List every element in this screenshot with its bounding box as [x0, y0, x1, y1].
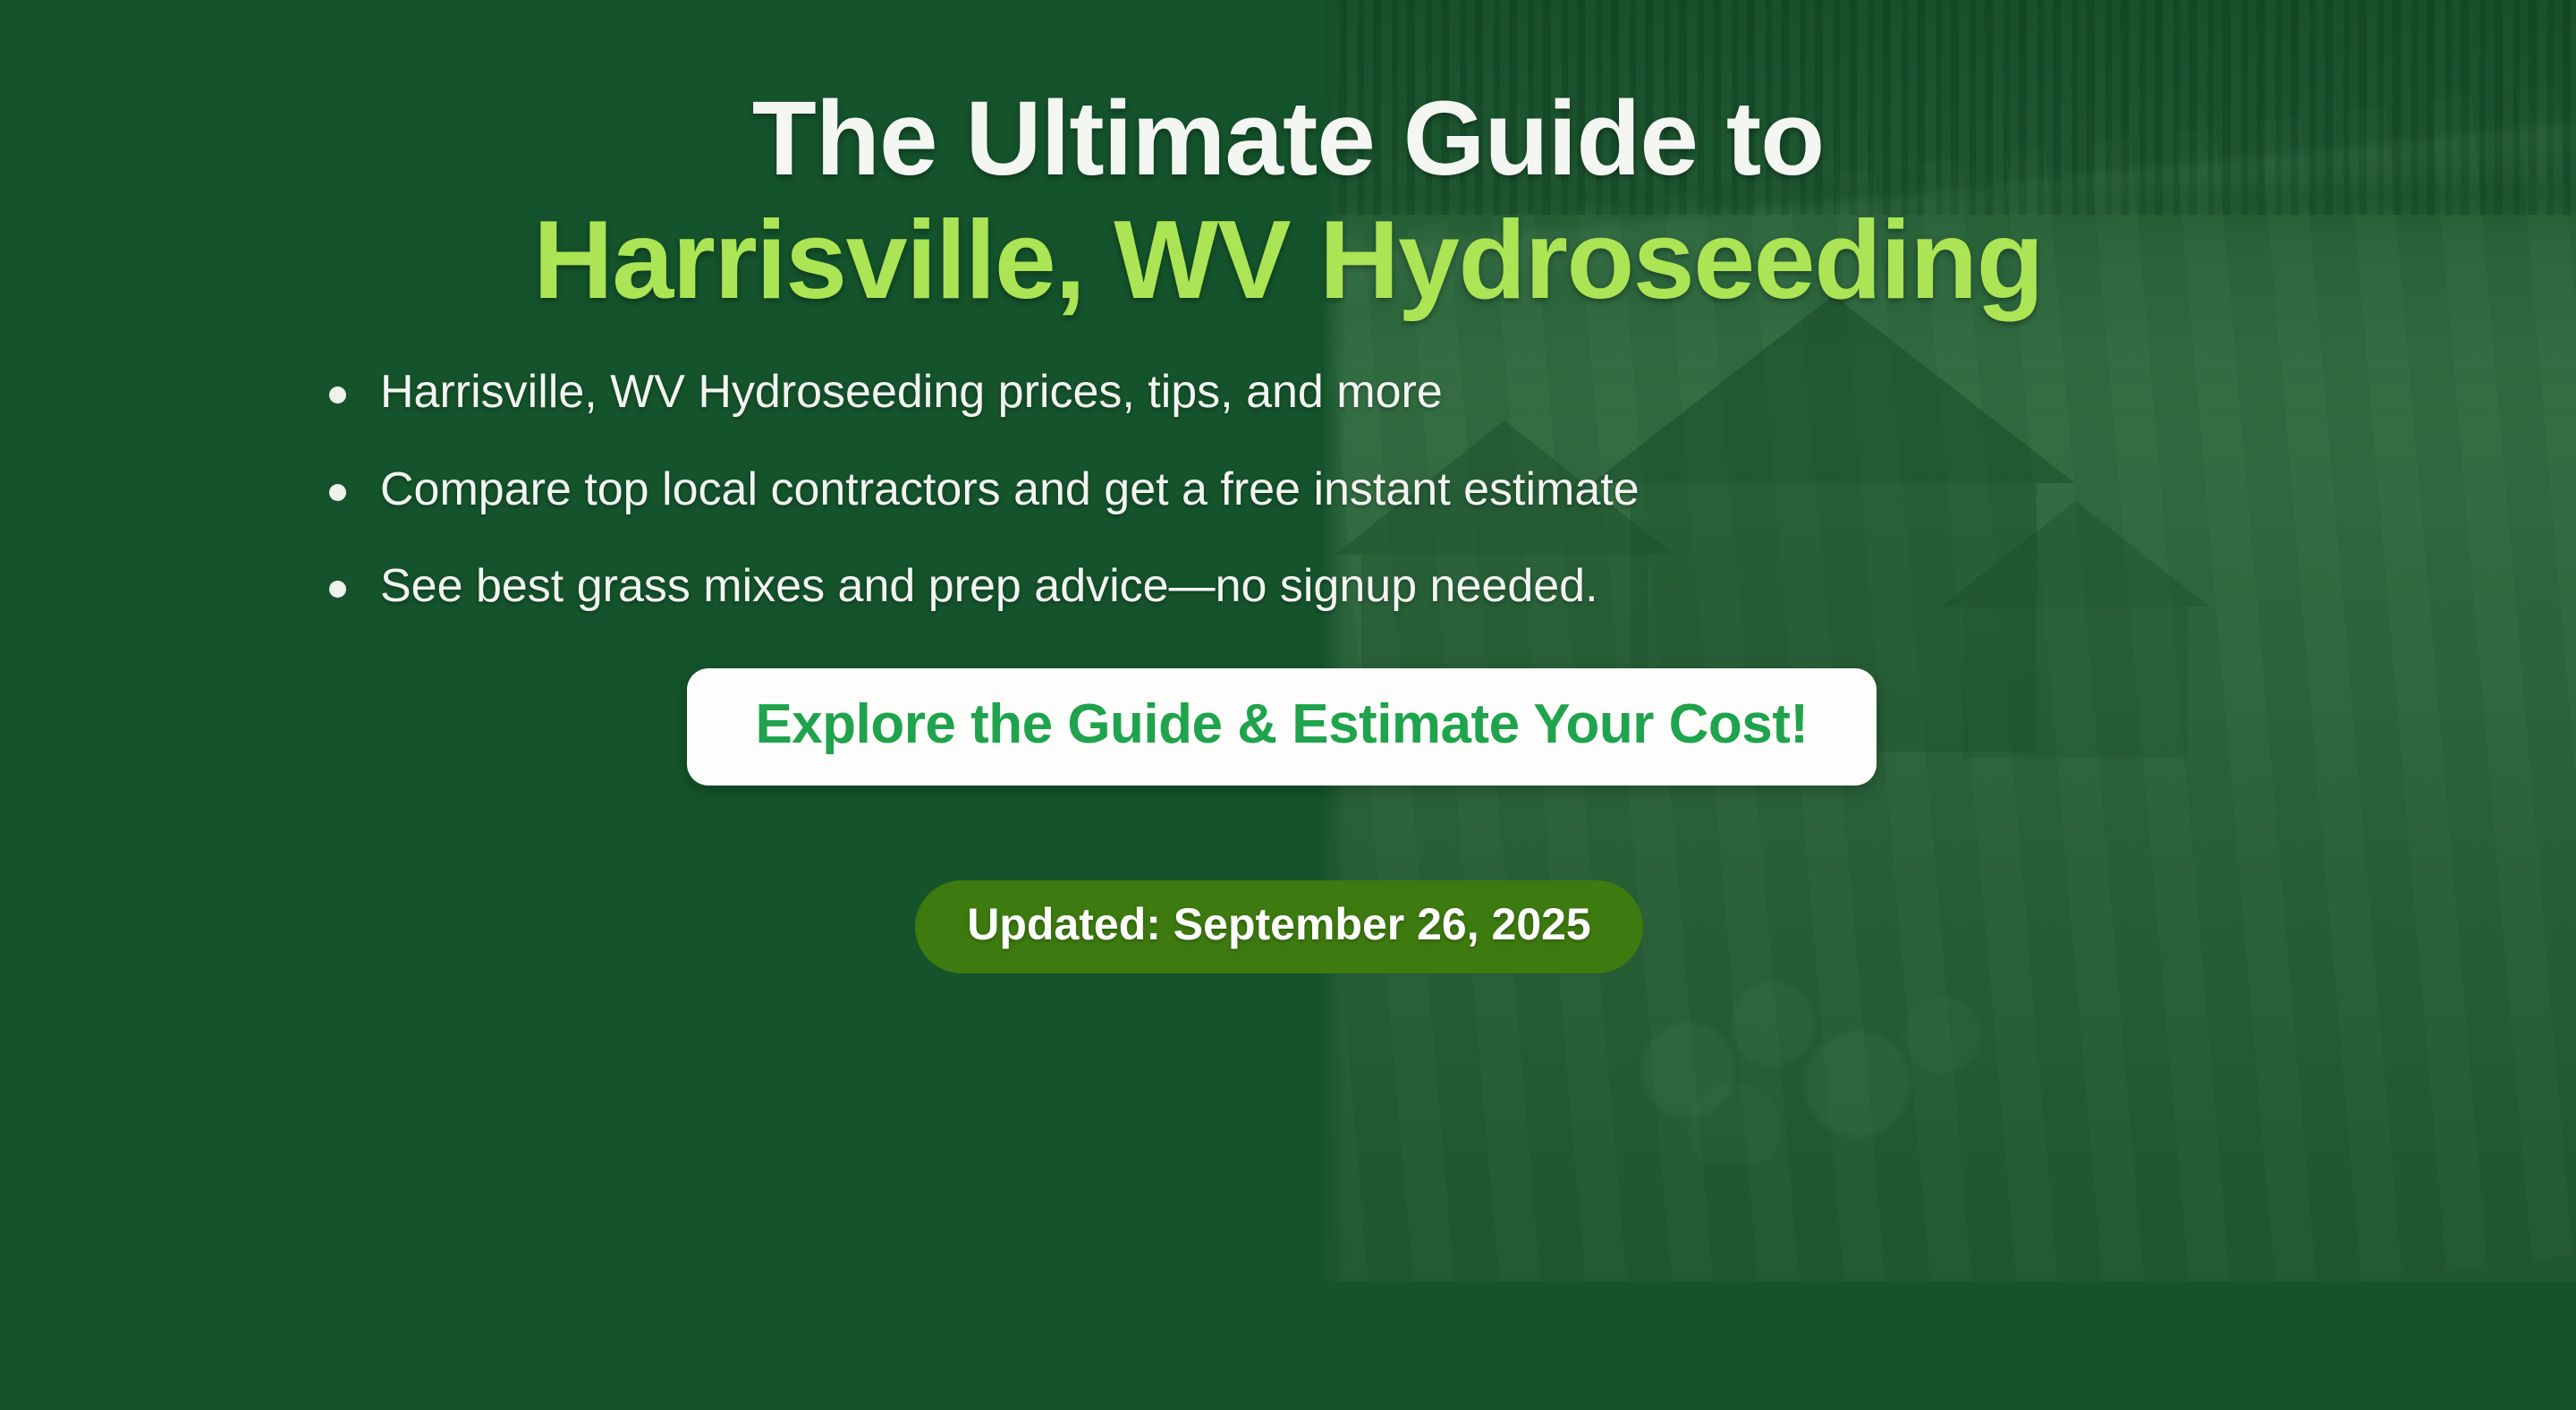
list-item: Compare top local contractors and get a … — [329, 464, 2576, 514]
list-item-label: See best grass mixes and prep advice—no … — [380, 560, 1598, 612]
bullet-dot-icon — [329, 386, 346, 403]
benefit-list: Harrisville, WV Hydroseeding prices, tip… — [0, 367, 2576, 610]
hero-banner: The Ultimate Guide to Harrisville, WV Hy… — [0, 0, 2576, 1410]
hero-content: The Ultimate Guide to Harrisville, WV Hy… — [0, 0, 2576, 1410]
updated-date-badge: Updated: September 26, 2025 — [915, 880, 1643, 973]
list-item: Harrisville, WV Hydroseeding prices, tip… — [329, 367, 2576, 417]
bullet-dot-icon — [329, 581, 346, 598]
list-item-label: Compare top local contractors and get a … — [380, 463, 1640, 515]
page-title-accent: Harrisville, WV Hydroseeding — [533, 204, 2043, 317]
list-item-label: Harrisville, WV Hydroseeding prices, tip… — [380, 366, 1443, 418]
page-title-primary: The Ultimate Guide to — [752, 86, 1824, 191]
explore-guide-cta-button[interactable]: Explore the Guide & Estimate Your Cost! — [687, 668, 1876, 786]
bullet-dot-icon — [329, 484, 346, 501]
list-item: See best grass mixes and prep advice—no … — [329, 561, 2576, 611]
